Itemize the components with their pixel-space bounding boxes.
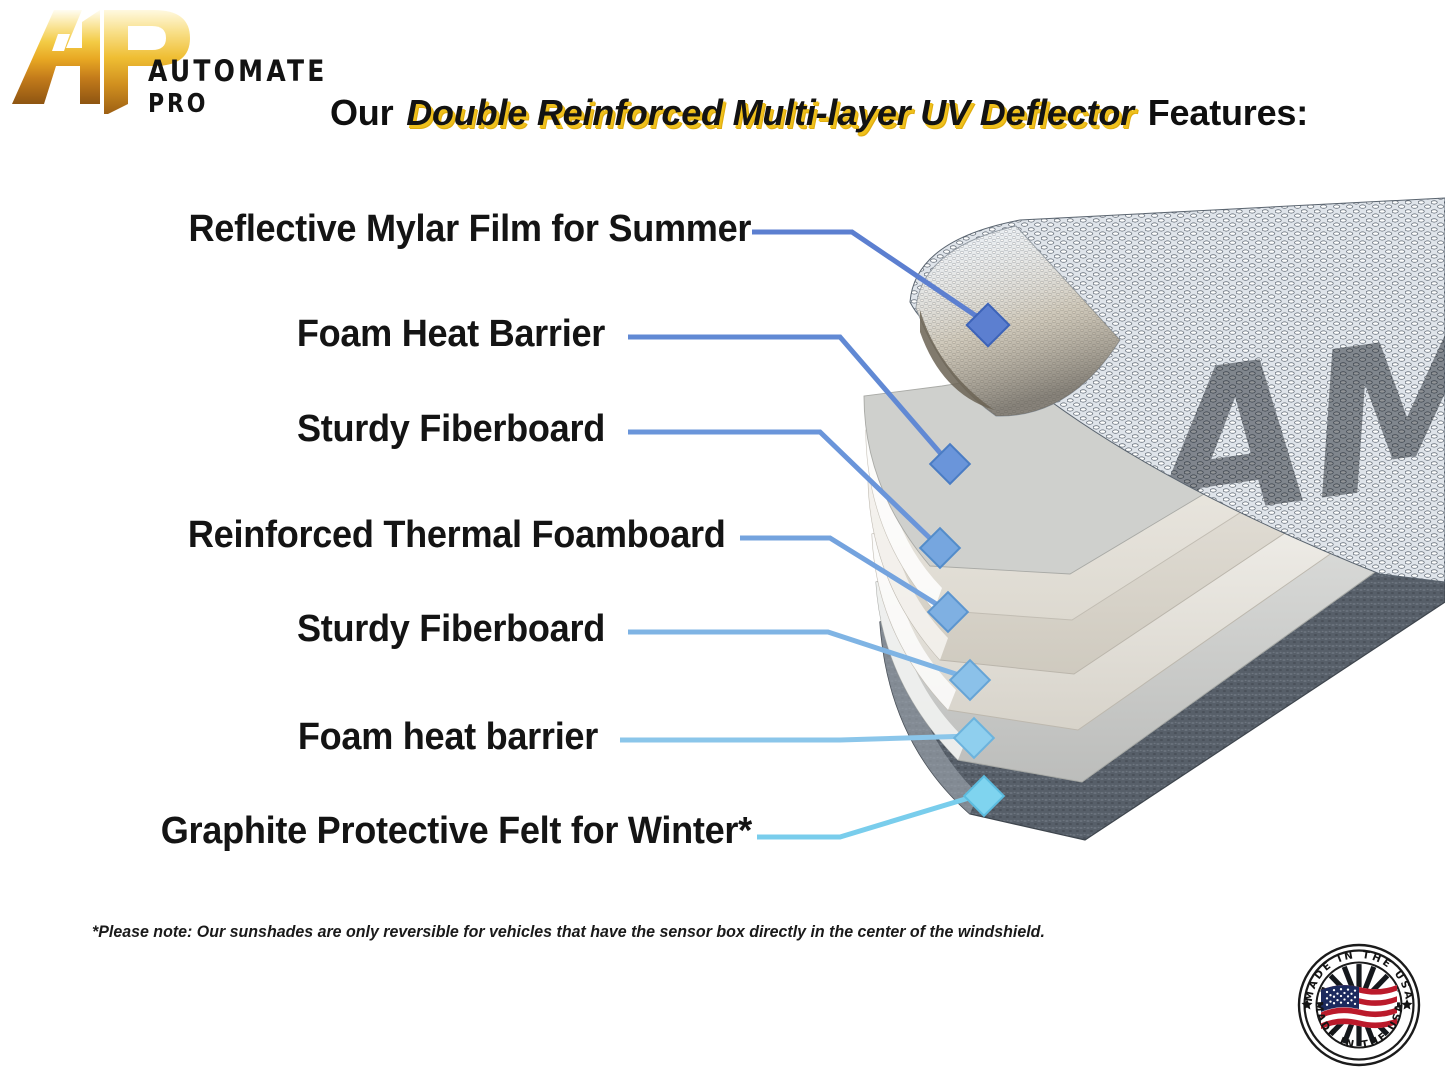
- feature-label-7: Graphite Protective Felt for Winter*: [161, 810, 745, 853]
- logo-wordmark: AUTOMATE PRO: [148, 56, 328, 116]
- feature-label-3: Sturdy Fiberboard: [182, 408, 605, 451]
- feature-label-5: Sturdy Fiberboard: [182, 608, 605, 651]
- headline-emphasis: Double Reinforced Multi-layer UV Deflect…: [403, 92, 1138, 133]
- usa-flag-icon: [1321, 985, 1397, 1029]
- made-in-usa-badge: MADE IN THE USA MADE IN THE USA: [1296, 942, 1422, 1068]
- footnote-text: *Please note: Our sunshades are only rev…: [92, 922, 1045, 942]
- feature-label-1: Reflective Mylar Film for Summer: [189, 208, 731, 251]
- feature-label-6: Foam heat barrier: [182, 716, 598, 759]
- product-photo: AMP: [820, 182, 1445, 882]
- feature-label-4: Reinforced Thermal Foamboard: [188, 514, 718, 557]
- headline-suffix: Features:: [1138, 92, 1308, 133]
- feature-label-2: Foam Heat Barrier: [182, 313, 605, 356]
- headline-prefix: Our: [330, 92, 403, 133]
- page-title: Our Double Reinforced Multi-layer UV Def…: [330, 92, 1308, 134]
- logo-automate-text: AUTOMATE: [148, 56, 328, 86]
- logo-pro-text: PRO: [148, 92, 328, 118]
- infographic-page: AUTOMATE PRO Our Double Reinforced Multi…: [0, 0, 1445, 1077]
- brand-logo: AUTOMATE PRO: [8, 4, 328, 124]
